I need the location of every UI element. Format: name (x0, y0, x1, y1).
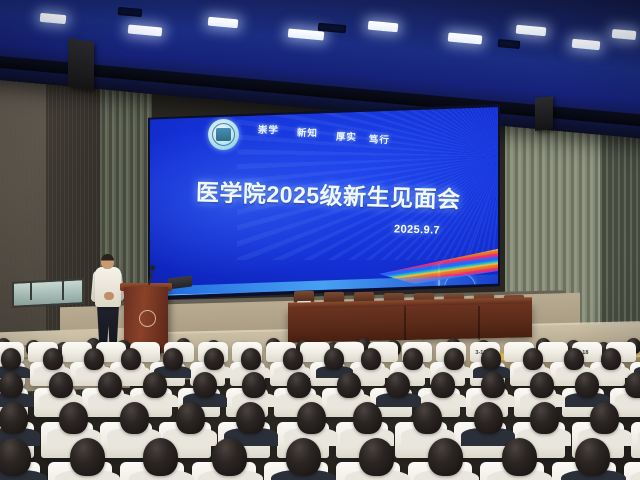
audience-head (625, 372, 640, 398)
audience-head (523, 348, 543, 370)
audience-head (0, 372, 23, 398)
head-table-seam (404, 306, 406, 340)
audience-head (70, 438, 105, 476)
podium-crest-icon (139, 310, 156, 327)
presenter-hands (104, 292, 114, 300)
audience-head (84, 348, 104, 370)
audience-head (403, 348, 423, 370)
audience-head (428, 438, 463, 476)
speaker-box-right (535, 96, 553, 131)
audience-head (502, 438, 537, 476)
audience-head (242, 372, 266, 398)
university-emblem-icon (208, 119, 239, 150)
audience-head (212, 438, 247, 476)
screen-date: 2025.9.7 (394, 223, 440, 236)
audience-head (287, 372, 311, 398)
audience-head (431, 372, 455, 398)
audience-head (297, 402, 326, 434)
motto-word-4: 笃行 (369, 132, 390, 147)
control-room-window (12, 278, 84, 308)
audience-head (121, 348, 141, 370)
emblem-core (216, 128, 231, 141)
audience-head (98, 372, 122, 398)
audience-head (530, 372, 554, 398)
audience-head (324, 348, 344, 370)
audience-head (236, 402, 265, 434)
audience-head (49, 372, 73, 398)
motto-word-2: 新知 (297, 125, 318, 140)
window-mullion (62, 281, 64, 300)
window-mullion (30, 282, 32, 300)
audience-head (241, 348, 261, 370)
audience-head (176, 402, 205, 434)
auditorium-photo: 崇学新知厚实笃行 医学院2025级新生见面会 2025.9.7 3-193-18… (0, 0, 640, 480)
audience-head (575, 438, 610, 476)
audience-head (386, 372, 410, 398)
audience-head (474, 402, 503, 434)
audience-head (163, 348, 183, 370)
speaker-box-left (68, 38, 94, 90)
audience-head (590, 402, 619, 434)
audience-head (481, 348, 501, 370)
audience-head (120, 402, 149, 434)
audience-head (59, 402, 88, 434)
head-table-seam (478, 306, 480, 340)
audience-head (359, 438, 394, 476)
audience-head (0, 438, 31, 476)
led-screen[interactable]: 崇学新知厚实笃行 医学院2025级新生见面会 2025.9.7 (150, 106, 498, 298)
audience-head (353, 402, 382, 434)
audience-head (143, 372, 167, 398)
audience-head (564, 348, 584, 370)
audience-area: 3-193-183-184-224-214-244-234-224-255-27 (0, 336, 640, 480)
audience-head (575, 372, 599, 398)
audience-head (413, 402, 442, 434)
audience-head (286, 438, 321, 476)
audience-head (283, 348, 303, 370)
presenter-head (101, 254, 114, 269)
audience-head (444, 348, 464, 370)
audience-head (337, 372, 361, 398)
motto-word-3: 厚实 (336, 129, 357, 144)
audience-head (143, 438, 178, 476)
presenter-torso (95, 267, 121, 307)
audience-head (481, 372, 505, 398)
audience-head (193, 372, 217, 398)
motto-word-1: 崇学 (258, 122, 279, 137)
audience-head (530, 402, 559, 434)
audience-head (0, 402, 28, 434)
audience-head (1, 348, 21, 370)
audience-head (204, 348, 224, 370)
audience-head (601, 348, 621, 370)
audience-head (43, 348, 63, 370)
audience-head (361, 348, 381, 370)
